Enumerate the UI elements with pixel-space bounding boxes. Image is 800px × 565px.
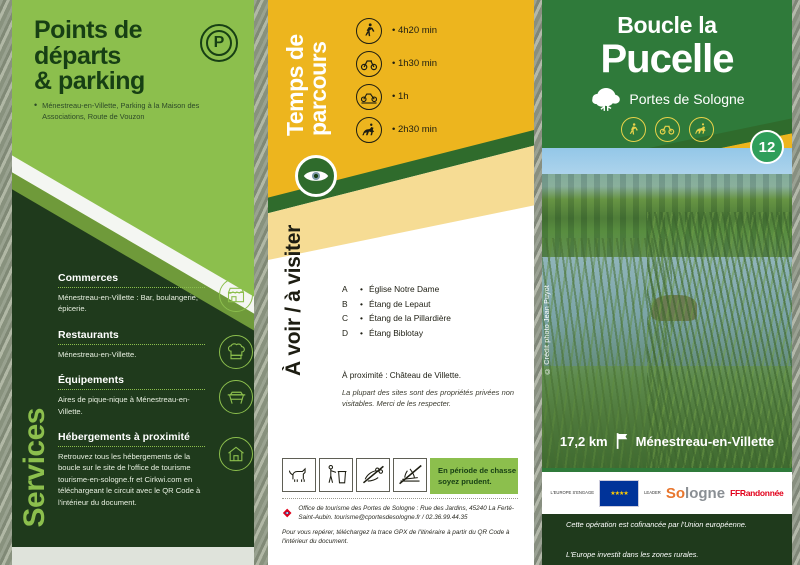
- parking-icon-letter: P: [214, 34, 225, 52]
- house-icon: [219, 437, 253, 471]
- service-divider: [58, 287, 205, 288]
- leurope-sengage-logo: L'EUROPE S'ENGAGE: [551, 490, 595, 495]
- points-of-interest-list: A • Église Notre Dame B • Étang de Lepau…: [342, 282, 451, 341]
- sologne-logo-part1: So: [666, 485, 685, 502]
- poi-key: A: [342, 282, 360, 297]
- service-body: Ménestreau-en-Villette.: [58, 349, 205, 360]
- poi-name: Étang de la Pillardière: [369, 311, 451, 326]
- service-divider: [58, 389, 205, 390]
- eu-stars: ★★★★: [600, 481, 638, 506]
- logo-text: L'EUROPE S'ENGAGE: [551, 490, 595, 495]
- poi-name: Église Notre Dame: [369, 282, 439, 297]
- shop-icon: [219, 278, 253, 312]
- tree-icon: [589, 86, 623, 112]
- time-row-cycling: • 1h30 min: [356, 47, 437, 80]
- parking-address-text: Ménestreau-en-Villette, Parking à la Mai…: [42, 100, 234, 122]
- time-row-mountain-bike: • 1h: [356, 80, 437, 113]
- photo-credit: © Crédit photo Jean Puyot: [544, 285, 551, 374]
- departure-header: Points de départs & parking P: [34, 18, 244, 95]
- start-city: Ménestreau-en-Villette: [636, 434, 774, 449]
- time-row-horse-riding: • 2h30 min: [356, 113, 437, 146]
- parking-bullet-item: • Ménestreau-en-Villette, Parking à la M…: [34, 100, 234, 122]
- poi-key: D: [342, 326, 360, 341]
- parking-icon: P: [200, 24, 238, 62]
- partner-logos: L'EUROPE S'ENGAGE ★★★★ LEADER Sologne FF…: [542, 472, 792, 514]
- hunting-warning-text: En période de chasse soyez prudent.: [438, 465, 518, 487]
- cover-title-big: Pucelle: [542, 39, 792, 80]
- service-body: Aires de pique-nique à Ménestreau-en-Vil…: [58, 394, 205, 417]
- services-list: Commerces Ménestreau-en-Villette : Bar, …: [58, 272, 253, 522]
- poi-name: Étang Biblotay: [369, 326, 423, 341]
- time-value: • 1h: [392, 91, 409, 102]
- chef-hat-icon: [219, 335, 253, 369]
- horse-rider-icon: [689, 117, 714, 142]
- bicycle-icon: [655, 117, 680, 142]
- pictogram-bar: En période de chasse soyez prudent.: [282, 458, 518, 494]
- sologne-logo-part2: logne: [685, 485, 725, 502]
- eu-funding-text-line2: L'Europe investit dans les zones rurales…: [566, 549, 698, 561]
- eu-flag-logo: ★★★★: [599, 480, 639, 507]
- ffrandonnee-text: FFRandonnée: [730, 488, 783, 498]
- poi-key: C: [342, 311, 360, 326]
- temps-de-parcours-label: Temps de parcours: [284, 16, 330, 136]
- brand-name: Portes de Sologne: [629, 91, 744, 107]
- time-value: • 4h20 min: [392, 25, 437, 36]
- service-item-commerces: Commerces Ménestreau-en-Villette : Bar, …: [58, 272, 253, 315]
- leader-logo: LEADER: [644, 490, 661, 495]
- poi-key: B: [342, 297, 360, 312]
- logo-text: LEADER: [644, 490, 661, 495]
- gpx-text: Pour vous repérer, téléchargez la trace …: [282, 528, 520, 547]
- poi-dot: •: [360, 326, 369, 341]
- eu-funding-text-line1: Cette opération est cofinancée par l'Uni…: [566, 519, 747, 531]
- cover-photo: [542, 148, 792, 468]
- service-divider: [58, 344, 205, 345]
- dog-on-leash-icon: [282, 458, 316, 492]
- service-item-restaurants: Restaurants Ménestreau-en-Villette.: [58, 329, 253, 360]
- private-property-note: La plupart des sites sont des propriétés…: [342, 387, 514, 410]
- brand-block: Portes de Sologne: [542, 86, 792, 112]
- service-heading: Équipements: [58, 374, 205, 386]
- no-campfire-icon: [393, 458, 427, 492]
- poi-dot: •: [360, 311, 369, 326]
- poi-dot: •: [360, 282, 369, 297]
- poi-row: A • Église Notre Dame: [342, 282, 451, 297]
- service-item-equipements: Équipements Aires de pique-nique à Ménes…: [58, 374, 253, 417]
- mountain-bike-icon: [356, 84, 382, 110]
- left-bottom-edge: [12, 547, 254, 565]
- poi-row: C • Étang de la Pillardière: [342, 311, 451, 326]
- bullet-dot: •: [34, 100, 37, 122]
- poi-name: Étang de Lepaut: [369, 297, 430, 312]
- distance-bar: 17,2 km Ménestreau-en-Villette: [542, 432, 792, 450]
- cover-title-block: Boucle la Pucelle Portes de Sologne: [542, 12, 792, 142]
- time-value: • 2h30 min: [392, 124, 437, 135]
- walker-icon: [621, 117, 646, 142]
- ffrandonnee-logo: FFRandonnée: [730, 488, 783, 498]
- brochure-page: Points de départs & parking P • Ménestre…: [0, 0, 800, 565]
- time-row-walking: • 4h20 min: [356, 14, 437, 47]
- picnic-table-icon: [219, 380, 253, 414]
- service-divider: [58, 446, 205, 447]
- flag-icon: [615, 432, 629, 450]
- tourist-office-icon: [282, 504, 292, 522]
- photo-reeds-right: [647, 212, 792, 468]
- eu-flag: ★★★★: [599, 480, 639, 507]
- eu-funding-footer: Cette opération est cofinancée par l'Uni…: [542, 514, 792, 565]
- right-stone-border-right: [792, 0, 800, 565]
- services-vertical-label: Services: [18, 408, 52, 527]
- poi-row: B • Étang de Lepaut: [342, 297, 451, 312]
- tourist-office-row: Office de tourisme des Portes de Sologne…: [282, 504, 520, 523]
- departure-title-line3: & parking: [34, 69, 244, 95]
- service-heading: Commerces: [58, 272, 205, 284]
- sologne-logo: Sologne: [666, 485, 725, 502]
- service-body: Retrouvez tous les hébergements de la bo…: [58, 451, 205, 508]
- left-stone-border-right: [254, 0, 268, 565]
- footer-divider: [282, 498, 518, 499]
- service-item-hebergements: Hébergements à proximité Retrouvez tous …: [58, 431, 253, 508]
- horse-rider-icon: [356, 117, 382, 143]
- service-heading: Restaurants: [58, 329, 205, 341]
- distance-value: 17,2 km: [560, 434, 608, 449]
- service-body: Ménestreau-en-Villette : Bar, boulangeri…: [58, 292, 205, 315]
- cover-title-small: Boucle la: [542, 12, 792, 39]
- left-panel: Points de départs & parking P • Ménestre…: [0, 0, 268, 565]
- left-stone-border: [0, 0, 12, 565]
- tourist-office-text: Office de tourisme des Portes de Sologne…: [298, 504, 520, 523]
- time-value: • 1h30 min: [392, 58, 437, 69]
- walker-icon: [356, 18, 382, 44]
- service-heading: Hébergements à proximité: [58, 431, 205, 443]
- loop-number-badge: 12: [750, 130, 784, 164]
- no-picking-flowers-icon: [356, 458, 390, 492]
- bicycle-icon: [356, 51, 382, 77]
- a-voir-a-visiter-label: À voir / à visiter: [282, 225, 306, 376]
- middle-footer: Office de tourisme des Portes de Sologne…: [282, 504, 520, 547]
- proximity-text: À proximité : Château de Villette.: [342, 371, 461, 380]
- travel-times-list: • 4h20 min • 1h30 min • 1h: [356, 14, 437, 146]
- no-littering-icon: [319, 458, 353, 492]
- middle-panel: Temps de parcours • 4h20 min • 1h30 min: [268, 0, 534, 565]
- right-panel: Boucle la Pucelle Portes de Sologne: [534, 0, 800, 565]
- eye-icon: [295, 155, 337, 197]
- poi-dot: •: [360, 297, 369, 312]
- hunting-warning-box: En période de chasse soyez prudent.: [430, 458, 518, 494]
- poi-row: D • Étang Biblotay: [342, 326, 451, 341]
- right-stone-border-left: [534, 0, 542, 565]
